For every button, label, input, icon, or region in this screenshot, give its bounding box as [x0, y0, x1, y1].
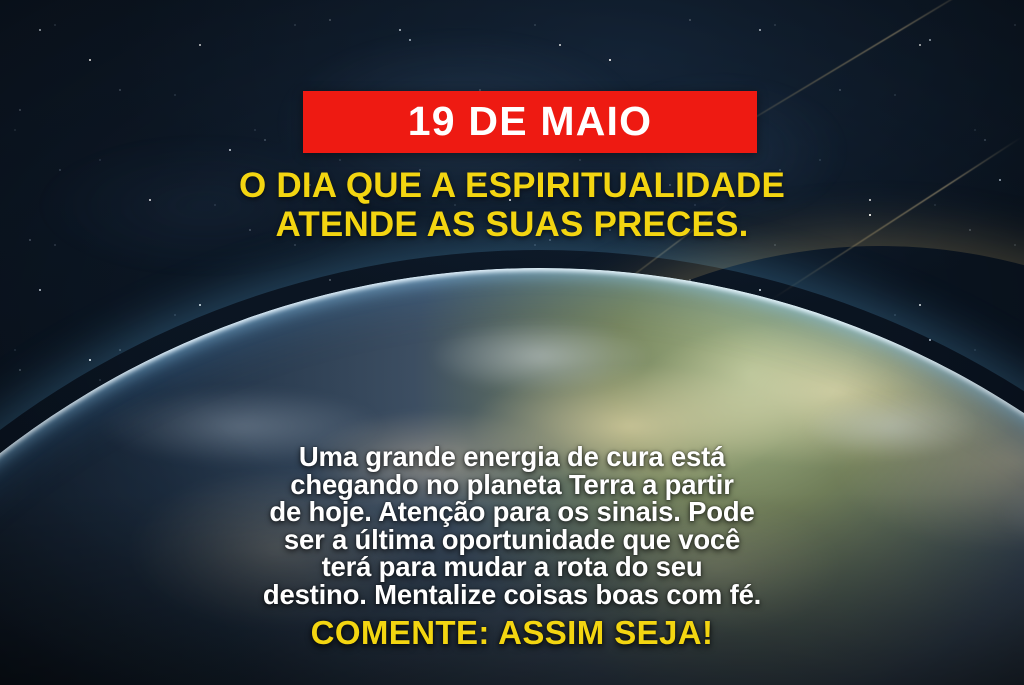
body-line-5: terá para mudar a rota do seu	[62, 553, 962, 581]
headline-line-2: ATENDE AS SUAS PRECES.	[0, 205, 1024, 244]
body-copy: Uma grande energia de cura está chegando…	[62, 443, 962, 608]
body-line-6: destino. Mentalize coisas boas com fé.	[62, 581, 962, 609]
body-line-2: chegando no planeta Terra a partir	[62, 471, 962, 499]
date-banner: 19 DE MAIO	[303, 91, 757, 153]
poster-content: 19 DE MAIO O DIA QUE A ESPIRITUALIDADE A…	[0, 0, 1024, 685]
body-line-1: Uma grande energia de cura está	[62, 443, 962, 471]
headline: O DIA QUE A ESPIRITUALIDADE ATENDE AS SU…	[0, 166, 1024, 244]
body-line-3: de hoje. Atenção para os sinais. Pode	[62, 498, 962, 526]
date-banner-label: 19 DE MAIO	[408, 101, 652, 142]
cta-label: COMENTE: ASSIM SEJA!	[311, 614, 714, 651]
call-to-action: COMENTE: ASSIM SEJA!	[0, 615, 1024, 651]
headline-line-1: O DIA QUE A ESPIRITUALIDADE	[0, 166, 1024, 205]
body-line-4: ser a última oportunidade que você	[62, 526, 962, 554]
poster: 19 DE MAIO O DIA QUE A ESPIRITUALIDADE A…	[0, 0, 1024, 685]
